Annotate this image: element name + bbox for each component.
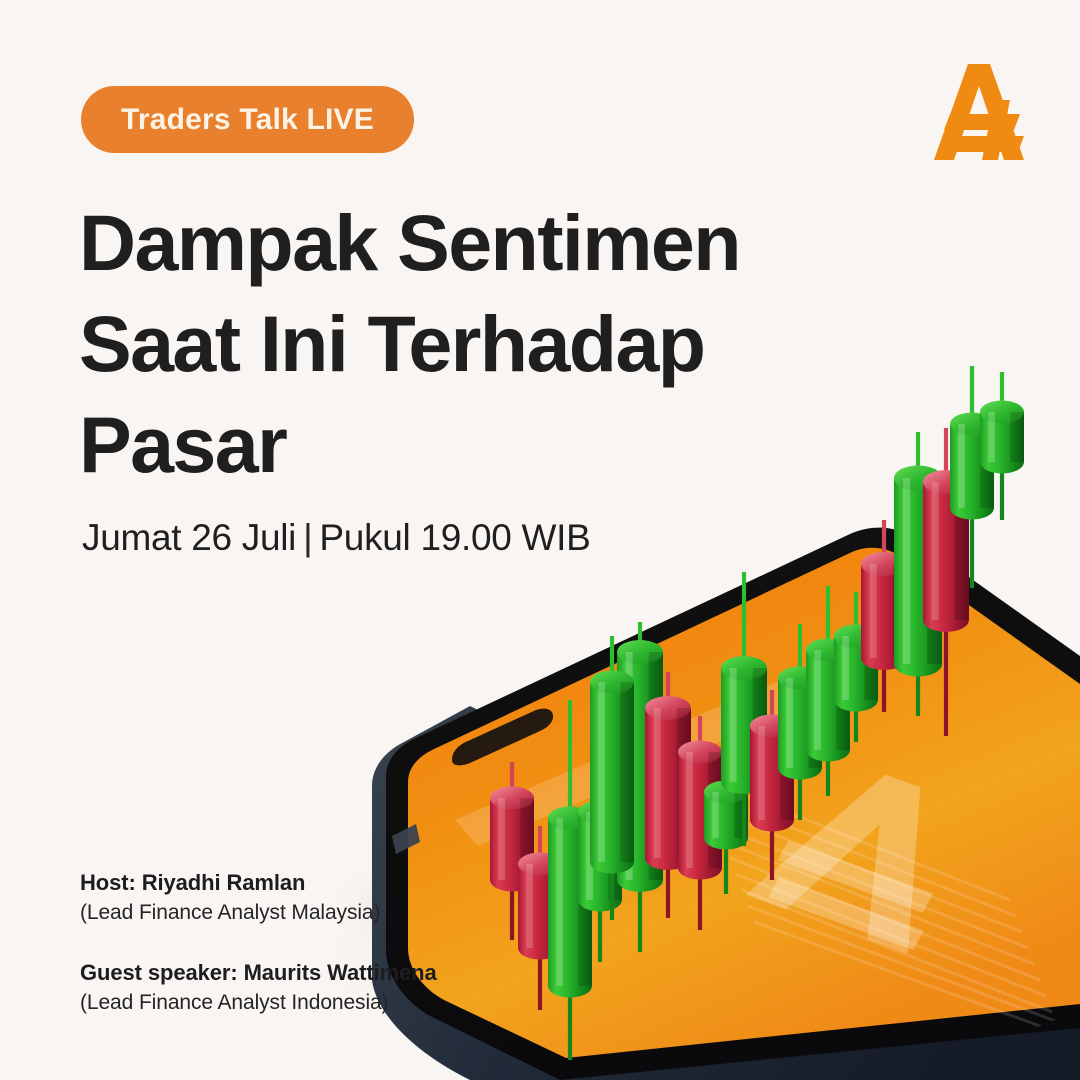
page-title-line-1: Dampak Sentimen bbox=[79, 192, 839, 293]
poster-canvas: Traders Talk LIVE Dampak Sentimen Saat I… bbox=[0, 0, 1080, 1080]
candle-13-up bbox=[806, 586, 850, 796]
speaker-credits: Host: Riyadhi Ramlan (Lead Finance Analy… bbox=[80, 868, 437, 1018]
candle-5-up bbox=[617, 622, 663, 952]
credit-block-host: Host: Riyadhi Ramlan (Lead Finance Analy… bbox=[80, 868, 437, 928]
live-badge-label: Traders Talk LIVE bbox=[121, 103, 374, 137]
schedule-separator: | bbox=[296, 517, 319, 558]
schedule-date: Jumat 26 Juli bbox=[82, 517, 296, 558]
schedule-time: Pukul 19.00 WIB bbox=[319, 517, 590, 558]
candle-19-up bbox=[980, 372, 1024, 520]
candle-9-up bbox=[704, 740, 748, 894]
candle-14-up bbox=[834, 592, 878, 742]
host-name: Host: Riyadhi Ramlan bbox=[80, 868, 437, 898]
candle-7-down bbox=[645, 672, 691, 918]
guest-name: Guest speaker: Maurits Wattimena bbox=[80, 958, 437, 988]
candle-4-up bbox=[578, 742, 622, 962]
candle-11-down bbox=[750, 690, 794, 880]
page-title-line-2: Saat Ini Terhadap bbox=[79, 293, 839, 394]
phone-mockup bbox=[372, 528, 1080, 1080]
live-badge[interactable]: Traders Talk LIVE bbox=[81, 86, 414, 153]
credit-block-guest: Guest speaker: Maurits Wattimena (Lead F… bbox=[80, 958, 437, 1018]
host-role: (Lead Finance Analyst Malaysia) bbox=[80, 898, 437, 928]
candle-15-down bbox=[861, 520, 907, 712]
candle-10-up bbox=[721, 572, 767, 846]
candle-3-up bbox=[548, 700, 592, 1060]
candle-2-down bbox=[518, 826, 562, 1010]
candle-18-up bbox=[950, 366, 994, 588]
brand-a-logo bbox=[928, 56, 1032, 168]
candle-1-down bbox=[490, 762, 534, 940]
schedule-line: Jumat 26 Juli|Pukul 19.00 WIB bbox=[82, 513, 591, 563]
candle-12-up bbox=[778, 624, 822, 820]
candle-6-up bbox=[590, 636, 634, 920]
page-title-line-3: Pasar bbox=[79, 394, 839, 495]
page-title: Dampak Sentimen Saat Ini Terhadap Pasar bbox=[79, 192, 839, 495]
candle-16-up bbox=[894, 432, 942, 716]
candle-17-down bbox=[923, 428, 969, 736]
candle-8-down bbox=[678, 716, 722, 930]
guest-role: (Lead Finance Analyst Indonesia) bbox=[80, 988, 437, 1018]
